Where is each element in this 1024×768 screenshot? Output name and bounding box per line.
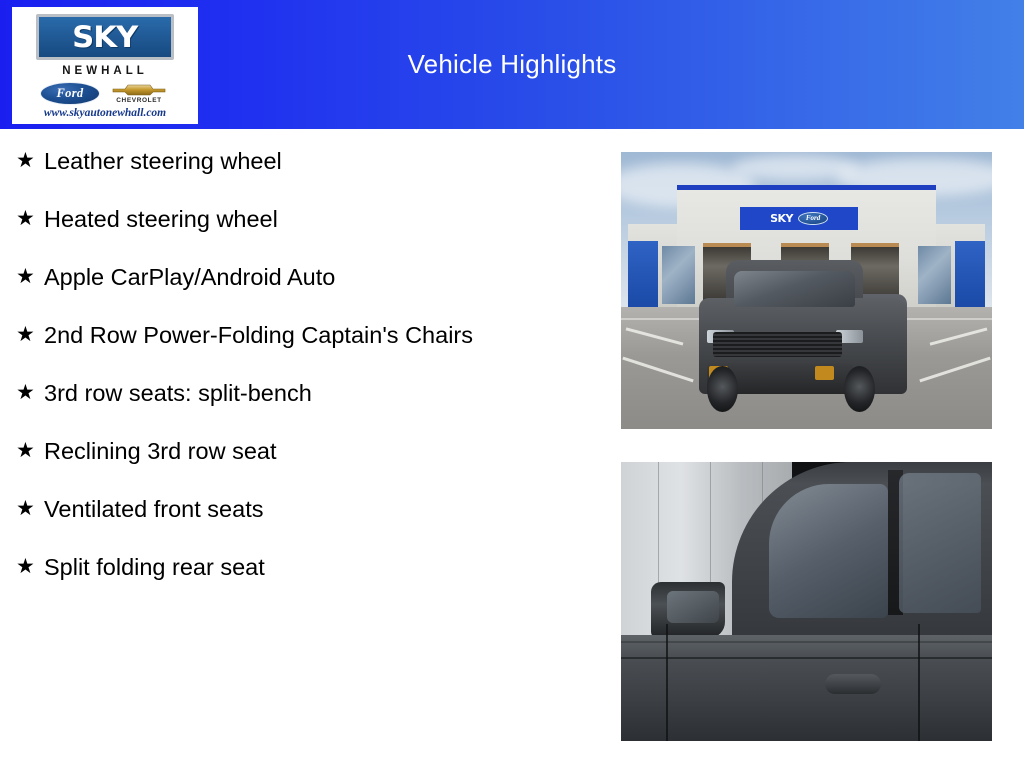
- sky-brand-badge: SKY: [36, 14, 174, 60]
- vehicle-front-window: [769, 484, 888, 618]
- side-mirror-glass: [667, 591, 719, 623]
- feature-label: Ventilated front seats: [44, 494, 263, 524]
- star-icon: ★: [12, 494, 44, 524]
- vehicle-rear-window: [899, 473, 981, 613]
- vehicle-door-handle: [825, 674, 881, 694]
- feature-label: 3rd row seats: split-bench: [44, 378, 312, 408]
- feature-label: Heated steering wheel: [44, 204, 278, 234]
- suv-wheel: [844, 366, 875, 413]
- feature-label: 2nd Row Power-Folding Captain's Chairs: [44, 320, 473, 350]
- suv-windshield: [734, 271, 854, 307]
- star-icon: ★: [12, 552, 44, 582]
- suv-fog-accent: [815, 366, 834, 380]
- list-item: ★ Apple CarPlay/Android Auto: [0, 262, 600, 292]
- franchise-badges-row: Ford CHEVROLET: [40, 82, 170, 105]
- chevrolet-logo-text: CHEVROLET: [116, 98, 162, 105]
- sky-brand-text: SKY: [72, 23, 137, 52]
- star-icon: ★: [12, 262, 44, 292]
- vehicle-photo-exterior-side: [621, 462, 992, 741]
- cloud-shape: [732, 155, 858, 180]
- ford-logo-icon: Ford: [40, 82, 100, 105]
- ford-logo-text: Ford: [57, 87, 84, 100]
- chevrolet-bowtie-icon: [111, 82, 167, 97]
- vehicle-side-mirror: [651, 582, 725, 638]
- feature-label: Reclining 3rd row seat: [44, 436, 277, 466]
- star-icon: ★: [12, 320, 44, 350]
- feature-label: Leather steering wheel: [44, 146, 282, 176]
- dealer-logo: SKY NEWHALL Ford CHEVROLE: [12, 7, 198, 124]
- vehicle-photo-exterior-front: SKY Ford: [621, 152, 992, 429]
- sign-sky-text: SKY: [770, 212, 793, 225]
- panel-gap: [918, 624, 920, 741]
- building-window: [918, 246, 951, 304]
- dealer-location-text: NEWHALL: [62, 66, 148, 78]
- dealership-sign: SKY Ford: [740, 207, 859, 229]
- star-icon: ★: [12, 378, 44, 408]
- star-icon: ★: [12, 436, 44, 466]
- suv-wheel: [707, 366, 738, 413]
- list-item: ★ Ventilated front seats: [0, 494, 600, 524]
- sign-ford-icon: Ford: [798, 212, 828, 225]
- list-item: ★ Reclining 3rd row seat: [0, 436, 600, 466]
- panel-gap: [666, 624, 668, 741]
- door-crease-line: [621, 641, 992, 643]
- chevrolet-logo-icon: CHEVROLET: [108, 82, 170, 105]
- list-item: ★ 2nd Row Power-Folding Captain's Chairs: [0, 320, 600, 350]
- building-blue-pillar: [628, 241, 658, 307]
- feature-label: Apple CarPlay/Android Auto: [44, 262, 335, 292]
- list-item: ★ Heated steering wheel: [0, 204, 600, 234]
- suv-grille: [713, 332, 842, 357]
- star-icon: ★: [12, 204, 44, 234]
- list-item: ★ Leather steering wheel: [0, 146, 600, 176]
- sign-ford-text: Ford: [806, 214, 820, 222]
- vehicle-door-panel: [621, 635, 992, 741]
- feature-label: Split folding rear seat: [44, 552, 265, 582]
- vehicle-suv: [699, 257, 907, 412]
- building-window: [662, 246, 695, 304]
- door-crease-line: [621, 657, 992, 659]
- vehicle-features-list: ★ Leather steering wheel ★ Heated steeri…: [0, 146, 600, 610]
- building-blue-pillar: [955, 241, 985, 307]
- list-item: ★ 3rd row seats: split-bench: [0, 378, 600, 408]
- dealer-website-text: www.skyautonewhall.com: [44, 108, 166, 120]
- star-icon: ★: [12, 146, 44, 176]
- list-item: ★ Split folding rear seat: [0, 552, 600, 582]
